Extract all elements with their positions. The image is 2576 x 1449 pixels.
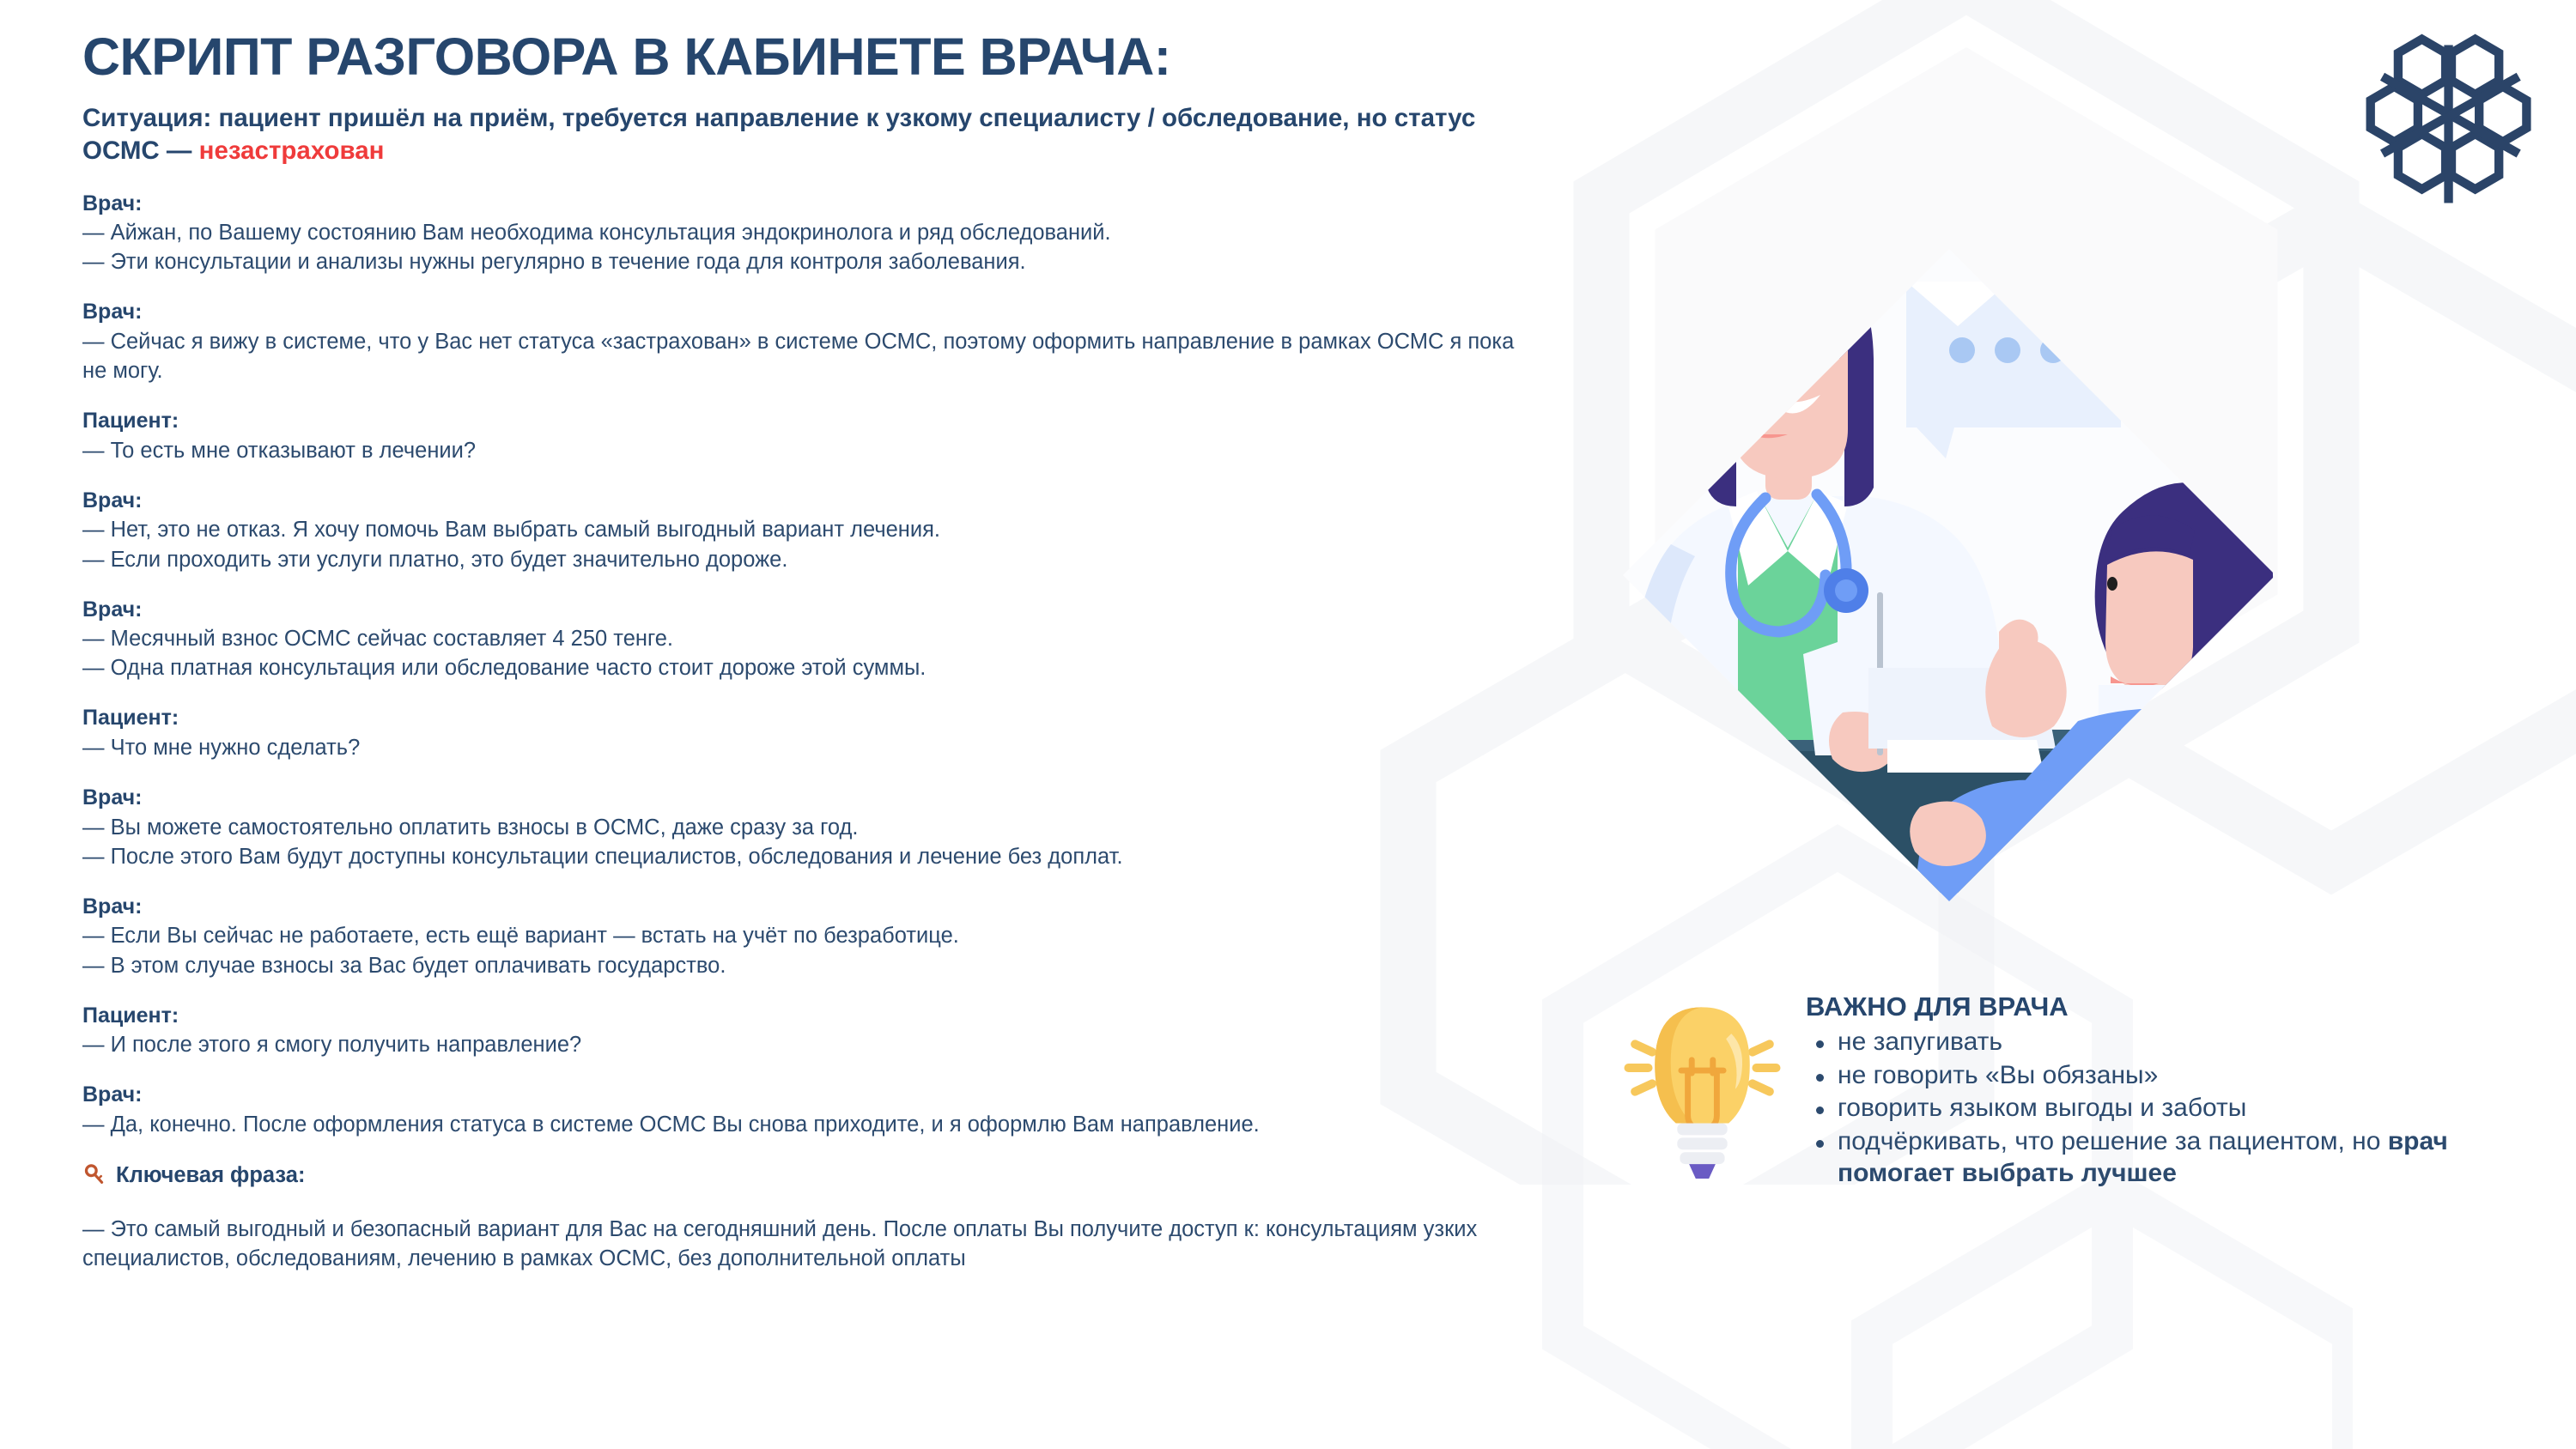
important-list-item: не говорить «Вы обязаны»: [1806, 1059, 2533, 1092]
lightbulb-icon: [1623, 994, 1782, 1179]
important-for-doctor-block: ВАЖНО ДЛЯ ВРАЧА не запугивать не говорит…: [1623, 979, 2533, 1191]
important-item-text: не запугивать: [1838, 1028, 2002, 1056]
important-list-item: говорить языком выгоды и заботы: [1806, 1092, 2533, 1125]
turn-line: — Айжан, по Вашему состоянию Вам необход…: [82, 218, 1534, 247]
important-item-text: говорить языком выгоды и заботы: [1838, 1094, 2246, 1122]
turn-line: — Да, конечно. После оформления статуса …: [82, 1110, 1534, 1139]
important-title: ВАЖНО ДЛЯ ВРАЧА: [1806, 991, 2533, 1022]
turn-line: — И после этого я смогу получить направл…: [82, 1030, 1534, 1059]
important-list-item: не запугивать: [1806, 1026, 2533, 1058]
dialogue-turn: Пациент: — И после этого я смогу получит…: [82, 1001, 1534, 1060]
important-text-group: ВАЖНО ДЛЯ ВРАЧА не запугивать не говорит…: [1806, 979, 2533, 1191]
turn-line: — Одна платная консультация или обследов…: [82, 653, 1534, 682]
key-phrase-body: — Это самый выгодный и безопасный вариан…: [82, 1215, 1534, 1273]
important-item-text: не говорить «Вы обязаны»: [1838, 1061, 2158, 1089]
key-phrase-title: Ключевая фраза:: [116, 1161, 305, 1190]
key-icon: [82, 1162, 109, 1189]
key-phrase-heading: Ключевая фраза:: [82, 1161, 1534, 1190]
turn-line: — В этом случае взносы за Вас будет опла…: [82, 951, 1534, 980]
turn-speaker: Врач:: [82, 892, 1534, 922]
status-badge-unsured: незастрахован: [199, 136, 385, 165]
important-item-text: подчёркивать, что решение за пациентом, …: [1838, 1127, 2388, 1155]
key-phrase-block: Ключевая фраза: — Это самый выгодный и б…: [82, 1161, 1534, 1273]
turn-line: — Нет, это не отказ. Я хочу помочь Вам в…: [82, 515, 1534, 544]
page-title: СКРИПТ РАЗГОВОРА В КАБИНЕТЕ ВРАЧА:: [82, 29, 1534, 86]
dialogue-turn: Врач: — Сейчас я вижу в системе, что у В…: [82, 297, 1534, 385]
turn-line: — Эти консультации и анализы нужны регул…: [82, 247, 1534, 276]
turn-speaker: Врач:: [82, 297, 1534, 327]
turn-line: — Что мне нужно сделать?: [82, 733, 1534, 762]
turn-speaker: Пациент:: [82, 703, 1534, 733]
dialogue-turn: Врач: — Да, конечно. После оформления ст…: [82, 1080, 1534, 1139]
turn-line: — Месячный взнос ОСМС сейчас составляет …: [82, 624, 1534, 653]
important-list-item: подчёркивать, что решение за пациентом, …: [1806, 1125, 2533, 1190]
dialogue-turn: Врач: — Нет, это не отказ. Я хочу помочь…: [82, 486, 1534, 574]
turn-speaker: Врач:: [82, 1080, 1534, 1110]
dialogue-turn: Пациент: — Что мне нужно сделать?: [82, 703, 1534, 762]
situation-subtitle: Ситуация: пациент пришёл на приём, требу…: [82, 102, 1491, 168]
important-list: не запугивать не говорить «Вы обязаны» г…: [1806, 1026, 2533, 1190]
turn-speaker: Врач:: [82, 189, 1534, 219]
dialogue-turn: Врач: — Айжан, по Вашему состоянию Вам н…: [82, 189, 1534, 277]
turn-line: — Вы можете самостоятельно оплатить взно…: [82, 813, 1534, 842]
dialogue-script: Врач: — Айжан, по Вашему состоянию Вам н…: [82, 189, 1534, 1140]
turn-speaker: Пациент:: [82, 406, 1534, 436]
dialogue-turn: Пациент: — То есть мне отказывают в лече…: [82, 406, 1534, 465]
turn-line: — Сейчас я вижу в системе, что у Вас нет…: [82, 327, 1534, 385]
turn-line: — Если проходить эти услуги платно, это …: [82, 545, 1534, 574]
dialogue-turn: Врач: — Месячный взнос ОСМС сейчас соста…: [82, 595, 1534, 683]
dialogue-turn: Врач: — Если Вы сейчас не работаете, ест…: [82, 892, 1534, 980]
turn-speaker: Врач:: [82, 486, 1534, 516]
slide-root: СКРИПТ РАЗГОВОРА В КАБИНЕТЕ ВРАЧА: Ситуа…: [0, 0, 2576, 1449]
turn-speaker: Пациент:: [82, 1001, 1534, 1031]
left-content-column: СКРИПТ РАЗГОВОРА В КАБИНЕТЕ ВРАЧА: Ситуа…: [82, 29, 1534, 1274]
turn-speaker: Врач:: [82, 595, 1534, 625]
turn-line: — То есть мне отказывают в лечении?: [82, 436, 1534, 465]
hexagon-flower-logo: [2353, 15, 2550, 213]
dialogue-turn: Врач: — Вы можете самостоятельно оплатит…: [82, 783, 1534, 871]
turn-speaker: Врач:: [82, 783, 1534, 813]
turn-line: — После этого Вам будут доступны консуль…: [82, 842, 1534, 871]
turn-line: — Если Вы сейчас не работаете, есть ещё …: [82, 921, 1534, 950]
doctor-patient-consultation-illustration: [1597, 215, 2301, 919]
